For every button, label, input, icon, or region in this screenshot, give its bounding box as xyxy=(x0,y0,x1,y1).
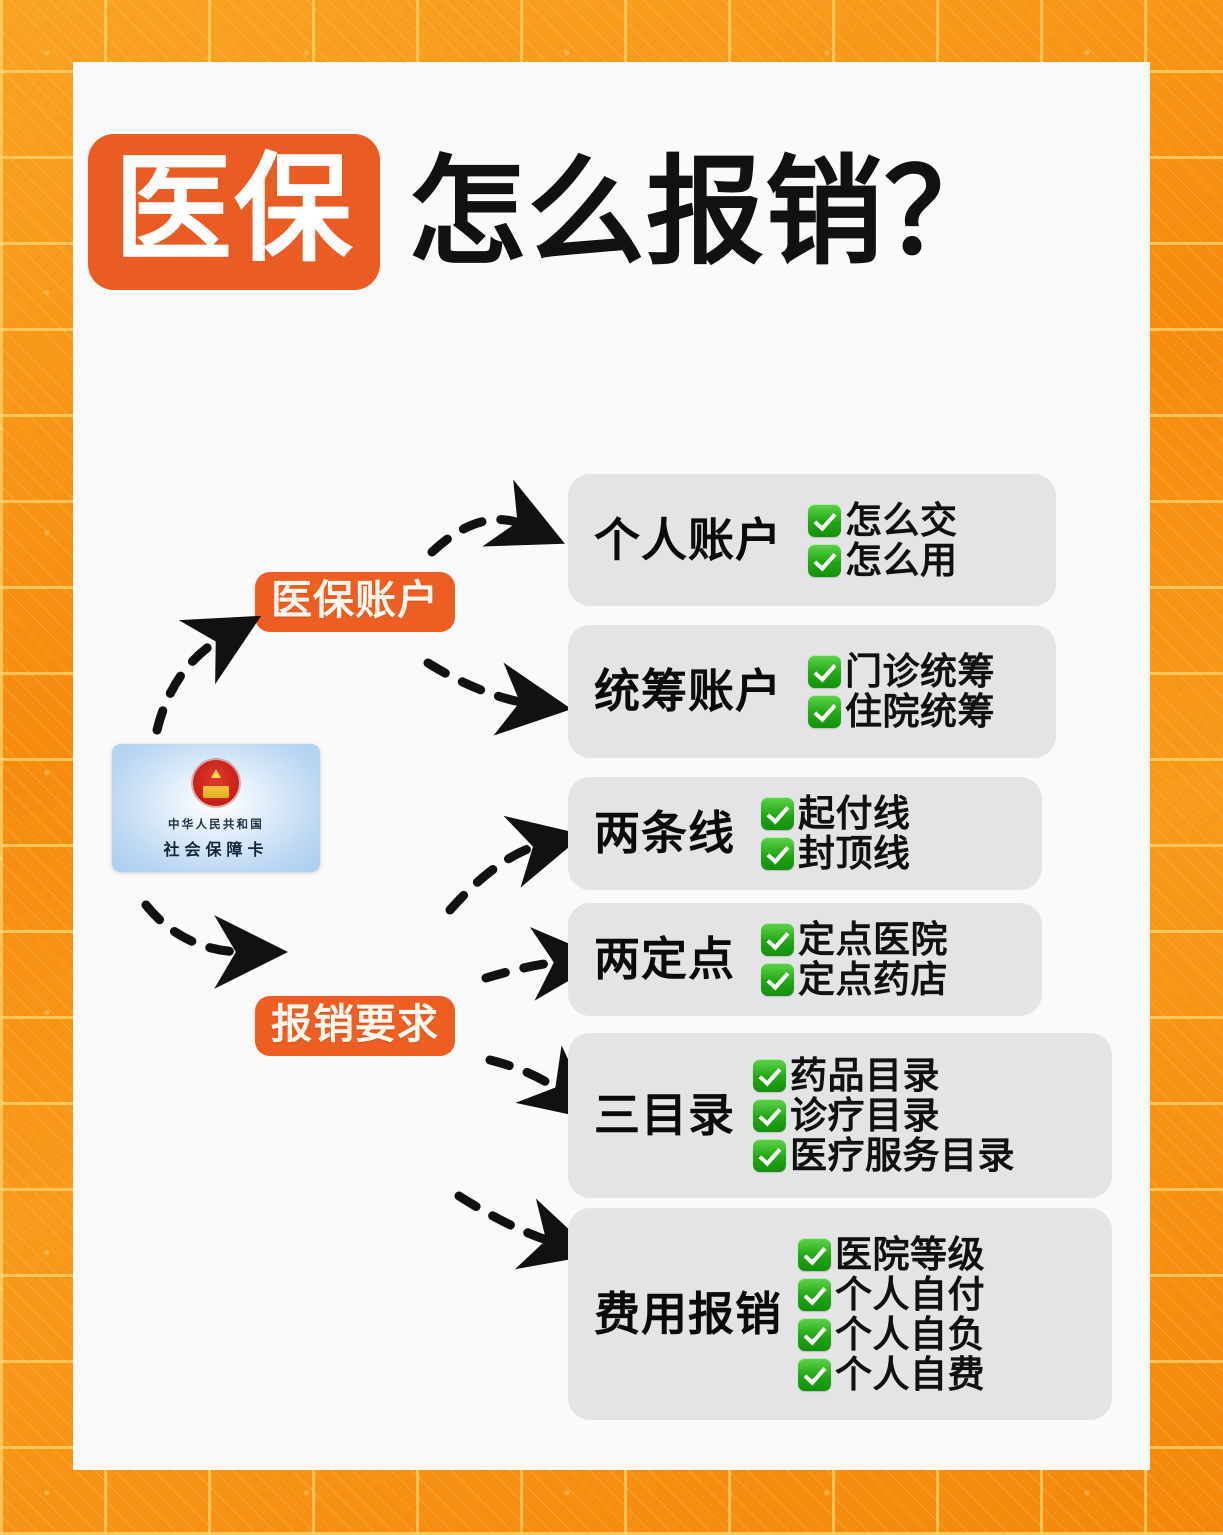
check-icon xyxy=(761,923,794,956)
list-item[interactable]: 医院等级 xyxy=(798,1236,985,1273)
list-item[interactable]: 住院统筹 xyxy=(808,693,995,730)
list-item-label: 怎么用 xyxy=(845,542,958,579)
list-item-label: 定点药店 xyxy=(798,961,948,998)
list-item[interactable]: 个人自负 xyxy=(798,1316,985,1353)
card-item-list: 医院等级 个人自付 个人自负 个人自费 xyxy=(798,1234,985,1394)
list-item-label: 医院等级 xyxy=(835,1236,985,1273)
list-item-label: 药品目录 xyxy=(790,1057,940,1094)
check-icon xyxy=(753,1059,786,1092)
card-item-list: 定点医院 定点药店 xyxy=(761,920,948,1000)
card-item-list: 起付线 封顶线 xyxy=(761,794,911,874)
list-item[interactable]: 个人自付 xyxy=(798,1276,985,1313)
list-item-label: 个人自负 xyxy=(835,1316,985,1353)
list-item[interactable]: 药品目录 xyxy=(753,1057,1015,1094)
info-card[interactable]: 个人账户 怎么交 怎么用 xyxy=(568,474,1056,606)
list-item[interactable]: 定点医院 xyxy=(761,921,948,958)
list-item-label: 诊疗目录 xyxy=(790,1097,940,1134)
card-title: 两定点 xyxy=(594,935,735,984)
list-item[interactable]: 定点药店 xyxy=(761,961,948,998)
list-item-label: 个人自费 xyxy=(835,1356,985,1393)
list-item[interactable]: 起付线 xyxy=(761,795,911,832)
national-emblem-icon xyxy=(193,760,239,806)
list-item[interactable]: 门诊统筹 xyxy=(808,653,995,690)
list-item[interactable]: 个人自费 xyxy=(798,1356,985,1393)
list-item-label: 个人自付 xyxy=(835,1276,985,1313)
check-icon xyxy=(808,504,841,537)
page-title: 医保 怎么报销？ xyxy=(88,134,1003,290)
card-title: 统筹账户 xyxy=(594,667,782,716)
info-card[interactable]: 两条线 起付线 封顶线 xyxy=(568,777,1042,890)
info-card[interactable]: 统筹账户 门诊统筹 住院统筹 xyxy=(568,625,1056,758)
check-icon xyxy=(753,1099,786,1132)
list-item[interactable]: 封顶线 xyxy=(761,835,911,872)
info-card[interactable]: 费用报销 医院等级 个人自付 个人自负 个人自费 xyxy=(568,1208,1112,1420)
list-item-label: 住院统筹 xyxy=(845,693,995,730)
card-name-label: 社会保障卡 xyxy=(112,836,320,860)
list-item-label: 怎么交 xyxy=(845,502,958,539)
group-label-insurance-account: 医保账户 xyxy=(255,572,455,632)
list-item-label: 医疗服务目录 xyxy=(790,1137,1015,1174)
card-title: 三目录 xyxy=(594,1091,735,1140)
card-country-label: 中华人民共和国 xyxy=(112,816,320,832)
group-label-reimbursement-requirements: 报销要求 xyxy=(255,996,455,1056)
info-card[interactable]: 两定点 定点医院 定点药店 xyxy=(568,903,1042,1016)
check-icon xyxy=(761,963,794,996)
card-item-list: 怎么交 怎么用 xyxy=(808,500,958,580)
list-item-label: 起付线 xyxy=(798,795,911,832)
list-item[interactable]: 医疗服务目录 xyxy=(753,1137,1015,1174)
card-title: 费用报销 xyxy=(594,1290,782,1339)
list-item-label: 定点医院 xyxy=(798,921,948,958)
info-card[interactable]: 三目录 药品目录 诊疗目录 医疗服务目录 xyxy=(568,1033,1112,1198)
title-text: 怎么报销？ xyxy=(408,153,1003,271)
social-security-card-image: 中华人民共和国 社会保障卡 xyxy=(112,744,320,872)
check-icon xyxy=(798,1238,831,1271)
check-icon xyxy=(761,797,794,830)
list-item-label: 门诊统筹 xyxy=(845,653,995,690)
title-badge: 医保 xyxy=(88,134,380,290)
check-icon xyxy=(808,544,841,577)
check-icon xyxy=(808,655,841,688)
check-icon xyxy=(798,1358,831,1391)
card-title: 两条线 xyxy=(594,809,735,858)
check-icon xyxy=(808,695,841,728)
check-icon xyxy=(798,1278,831,1311)
list-item-label: 封顶线 xyxy=(798,835,911,872)
card-item-list: 药品目录 诊疗目录 医疗服务目录 xyxy=(753,1056,1015,1176)
list-item[interactable]: 诊疗目录 xyxy=(753,1097,1015,1134)
list-item[interactable]: 怎么交 xyxy=(808,502,958,539)
list-item[interactable]: 怎么用 xyxy=(808,542,958,579)
check-icon xyxy=(761,837,794,870)
check-icon xyxy=(798,1318,831,1351)
card-item-list: 门诊统筹 住院统筹 xyxy=(808,652,995,732)
check-icon xyxy=(753,1139,786,1172)
card-title: 个人账户 xyxy=(594,516,782,565)
